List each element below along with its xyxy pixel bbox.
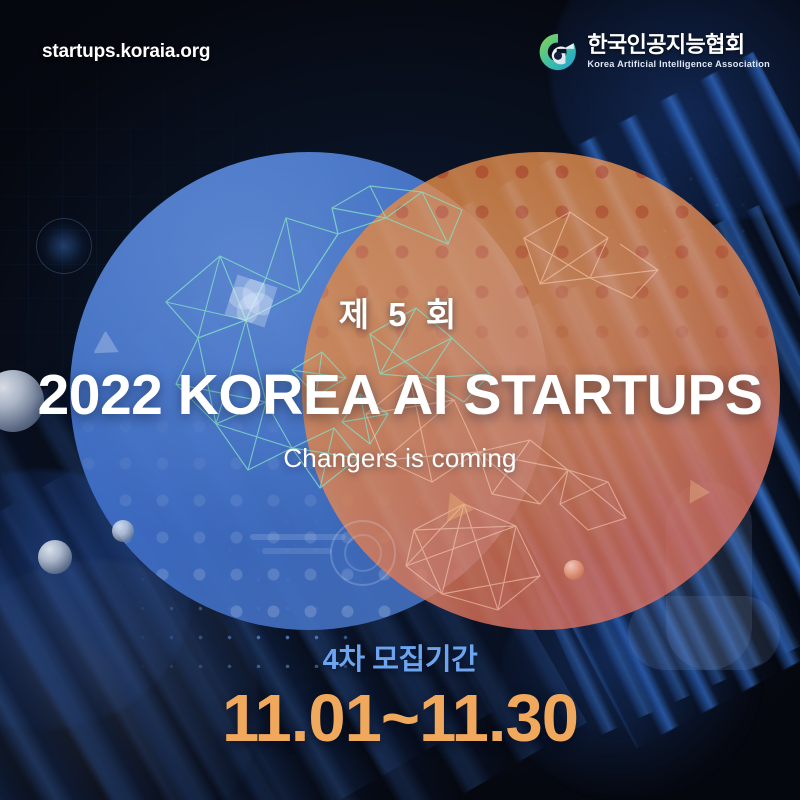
sphere-medium-left [38,540,72,574]
sphere-small-orange [564,560,584,580]
orange-circle-halftone-dots [302,152,780,420]
logo-english-name: Korea Artificial Intelligence Associatio… [587,60,770,69]
recruitment-date-range: 11.01~11.30 [0,684,800,754]
triangle-play-icon-right [690,480,711,505]
koraia-circular-logo-icon [538,32,578,72]
sphere-small-left [112,520,134,542]
koraia-logo-lockup[interactable]: 한국인공지능협회 Korea Artificial Intelligence A… [538,32,770,72]
decorative-bar-upper [250,534,346,540]
network-node-glow-icon [36,218,92,274]
site-url-text[interactable]: startups.koraia.org [42,41,210,63]
logo-korean-name: 한국인공지능협회 [587,34,770,56]
triangle-play-icon-center [447,492,475,524]
decorative-bar-lower [262,548,332,554]
recruitment-round-label: 4차 모집기간 [0,636,800,678]
recruitment-period-block: 4차 모집기간 11.01~11.30 [0,636,800,754]
poster-canvas: startups.koraia.org [0,0,800,800]
poster-header: startups.koraia.org [0,0,800,104]
logo-text-block: 한국인공지능협회 Korea Artificial Intelligence A… [587,34,770,69]
decorative-ring-inner [344,534,382,572]
